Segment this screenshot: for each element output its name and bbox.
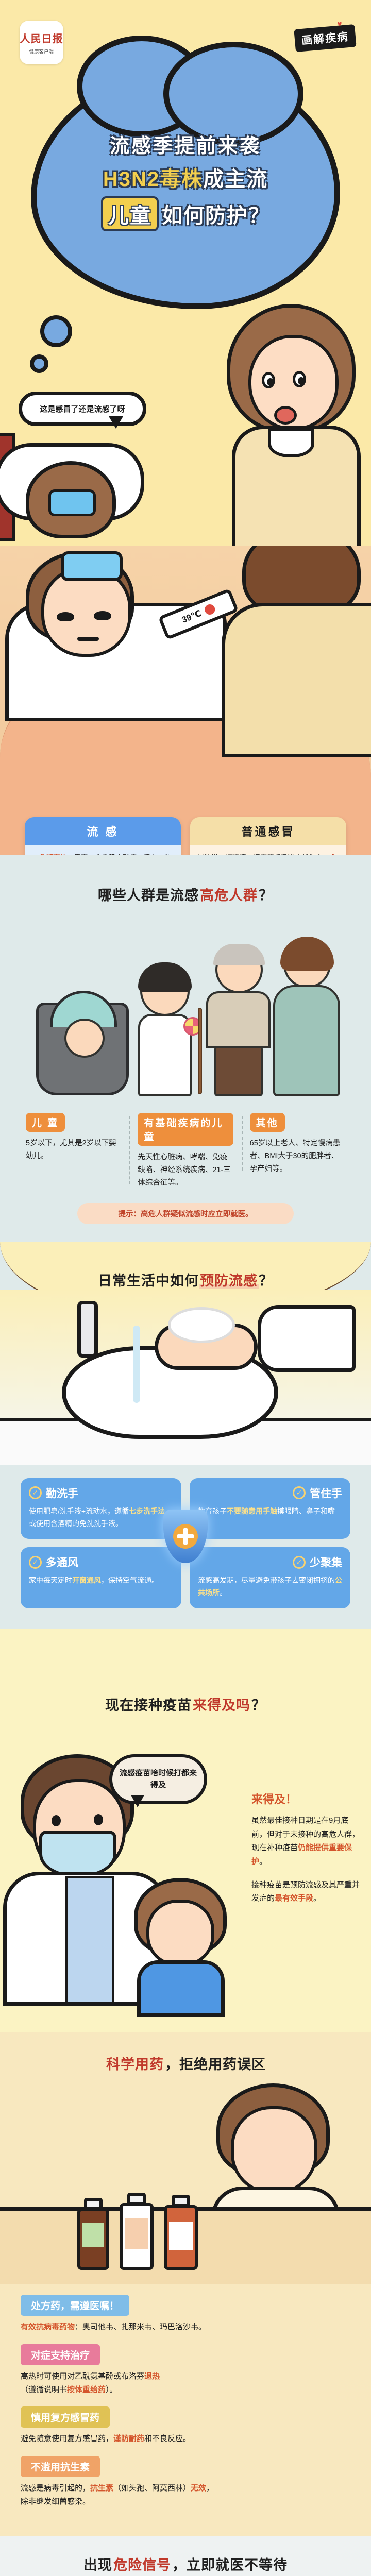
prevention-card-text: 家中每天定时开窗通风，保持空气流通。 bbox=[29, 1574, 173, 1587]
water-stream bbox=[133, 1326, 140, 1403]
doctor-speech-bubble: 流感疫苗啥时候打都来得及 bbox=[109, 1754, 207, 1804]
prevention-card-text: 使用肥皂/洗手液+流动水，遵循七步洗手法，或使用含酒精的免洗洗手液。 bbox=[29, 1505, 173, 1530]
flu-card: 流 感 急起高热、畏寒、全身肌肉酸痛、乏力、头痛等全身症状显著； 一些患儿也可能… bbox=[25, 817, 181, 855]
high-risk-heading-plain: 哪些人群是流感 bbox=[98, 888, 199, 903]
medication-heading: 科学用药，拒绝用药误区 bbox=[0, 2032, 371, 2073]
medication-tag-supportive: 对症支持治疗 bbox=[21, 2344, 100, 2365]
cold-symptom-text: 以流涕、打喷嚏、咽痛等呼吸道症状为主，全身症状较轻。 bbox=[197, 852, 339, 855]
hero-question: 如何防护？ bbox=[162, 199, 270, 229]
publisher-logo: 人民日报 健康客户端 bbox=[20, 21, 63, 64]
hero-title-line3: 儿童 如何防护？ bbox=[101, 196, 270, 231]
danger-heading: 出现危险信号，立即就医不等待 bbox=[0, 2536, 371, 2576]
prevention-card-control-hands: ✓管住手 教育孩子不要随意用手触摸眼睛、鼻子和嘴巴。 bbox=[190, 1478, 350, 1539]
risk-text: 5岁以下，尤其是2岁以下婴幼儿。 bbox=[26, 1137, 121, 1163]
check-icon: ✓ bbox=[29, 1486, 42, 1499]
publisher-name: 人民日报 bbox=[20, 30, 63, 45]
sick-child-eye-left bbox=[57, 612, 74, 621]
prevention-card-wash-hands: ✓勤洗手 使用肥皂/洗手液+流动水，遵循七步洗手法，或使用含酒精的免洗洗手液。 bbox=[21, 1478, 181, 1539]
sick-child-mouth bbox=[77, 637, 99, 641]
comparison-cards: 流 感 急起高热、畏寒、全身肌肉酸痛、乏力、头痛等全身症状显著； 一些患儿也可能… bbox=[0, 817, 371, 855]
prevention-heading-red: 预防流感 bbox=[200, 1273, 258, 1289]
prevention-section: 日常生活中如何预防流感？ ✓勤洗手 使用肥皂/洗手液+流动水，遵循七步洗手法，或… bbox=[0, 1242, 371, 1629]
title-cloud: 流感季提前来袭 H3N2毒株成主流 儿童 如何防护？ bbox=[31, 67, 340, 309]
danger-heading-red: 危险信号 bbox=[113, 2557, 171, 2573]
medication-text: 高热时可使用对乙酰氨基酚或布洛芬退热（遵循说明书按体重给药）。 bbox=[21, 2370, 350, 2397]
thought-bubble-small bbox=[30, 354, 48, 373]
high-risk-heading-mark: ？ bbox=[259, 888, 273, 903]
elderly-man-figure bbox=[206, 946, 271, 1095]
handwashing-illustration bbox=[0, 1290, 371, 1465]
high-risk-section: 哪些人群是流感高危人群？ 儿 童 5岁以下，尤其是2岁以下婴幼儿。 bbox=[0, 855, 371, 1242]
cooling-patch-icon bbox=[61, 551, 123, 581]
hero-mainstream: 成主流 bbox=[203, 168, 268, 191]
vaccine-answer: 来得及！ 虽然最佳接种日期是在9月底前，但对于未接种的高危人群，现在补种疫苗仍能… bbox=[251, 1790, 360, 1915]
prevention-card-avoid-crowds: ✓少聚集 流感高发期，尽量避免带孩子去密闭拥挤的公共场所。 bbox=[190, 1547, 350, 1608]
danger-heading-plain-1: 出现 bbox=[83, 2557, 112, 2573]
child-illustration bbox=[129, 1878, 232, 2007]
medication-tag-prescription: 处方药，需遵医嘱！ bbox=[21, 2295, 129, 2316]
prevention-card-title: 多通风 bbox=[46, 1554, 78, 1570]
sick-child-eye-right bbox=[94, 611, 111, 620]
risk-column: 其他 65岁以上老人、特定慢病患者、BMI大于30的肥胖者、孕产妇等。 bbox=[242, 1113, 353, 1176]
prevention-card-ventilate: ✓多通风 家中每天定时开窗通风，保持空气流通。 bbox=[21, 1547, 181, 1608]
mother-speech-bubble: 这是感冒了还是流感了呀 bbox=[19, 392, 146, 426]
hero-title-line1: 流感季提前来袭 bbox=[110, 130, 261, 158]
medication-text: 避免随意使用复方感冒药，谨防耐药和不良反应。 bbox=[21, 2432, 350, 2446]
vaccine-scene: 流感疫苗啥时候打都来得及 来得及！ 虽然最佳接种日期是在9月底前，但对于未接种的… bbox=[0, 1723, 371, 2022]
prevention-card-text: 流感高发期，尽量避免带孩子去密闭拥挤的公共场所。 bbox=[198, 1574, 342, 1599]
danger-heading-plain-2: ，立即就医不等待 bbox=[172, 2557, 288, 2573]
high-risk-heading: 哪些人群是流感高危人群？ bbox=[0, 884, 371, 904]
vaccine-answer-title: 来得及！ bbox=[251, 1790, 360, 1807]
risk-badge: 有基础疾病的儿童 bbox=[138, 1113, 233, 1146]
soap-foam-icon bbox=[168, 1307, 235, 1343]
risk-text: 65岁以上老人、特定慢病患者、BMI大于30的肥胖者、孕产妇等。 bbox=[250, 1137, 345, 1176]
thought-bubble-large bbox=[40, 315, 72, 347]
vaccine-heading-mark: ？ bbox=[251, 1698, 266, 1713]
mother-holding-thermometer bbox=[222, 546, 371, 762]
check-icon: ✓ bbox=[293, 1556, 306, 1569]
risk-column: 有基础疾病的儿童 先天性心脏病、哮喘、免疫缺陷、神经系统疾病、21-三体综合征等… bbox=[129, 1113, 241, 1190]
risk-badge: 儿 童 bbox=[26, 1113, 65, 1132]
cold-card-body: 以流涕、打喷嚏、咽痛等呼吸道症状为主，全身症状较轻。 bbox=[190, 845, 346, 855]
series-badge-label: 画解疾病 bbox=[301, 31, 349, 47]
risk-badge: 其他 bbox=[250, 1113, 285, 1132]
wave-divider bbox=[0, 1629, 371, 1691]
medication-text: 有效抗病毒药物：奥司他韦、扎那米韦、玛巴洛沙韦。 bbox=[21, 2320, 350, 2334]
medication-text: 流感是病毒引起的，抗生素（如头孢、阿莫西林）无效，除非继发细菌感染。 bbox=[21, 2482, 350, 2509]
medication-tag-combination: 慎用复方感冒药 bbox=[21, 2406, 110, 2428]
hero-section: 人民日报 健康客户端 ♥ 画解疾病 流感季提前来袭 H3N2毒株成主流 儿童 如… bbox=[0, 0, 371, 546]
medication-guidelines: 处方药，需遵医嘱！ 有效抗病毒药物：奥司他韦、扎那米韦、玛巴洛沙韦。 对症支持治… bbox=[0, 2284, 371, 2509]
check-icon: ✓ bbox=[29, 1556, 42, 1569]
infographic-page: 人民日报 健康客户端 ♥ 画解疾病 流感季提前来袭 H3N2毒株成主流 儿童 如… bbox=[0, 0, 371, 2576]
high-risk-columns: 儿 童 5岁以下，尤其是2岁以下婴幼儿。 有基础疾病的儿童 先天性心脏病、哮喘、… bbox=[0, 1113, 371, 1190]
baby-stroller-icon bbox=[36, 1003, 129, 1095]
medicine-bottle-icon bbox=[120, 2203, 154, 2270]
walking-cane-icon bbox=[198, 1008, 202, 1094]
series-badge: ♥ 画解疾病 bbox=[294, 24, 356, 52]
hero-strain: H3N2毒株 bbox=[103, 168, 203, 191]
mother-illustration bbox=[216, 304, 371, 546]
medication-heading-plain: ，拒绝用药误区 bbox=[165, 2057, 266, 2072]
high-risk-heading-red: 高危人群 bbox=[200, 888, 258, 903]
vaccine-heading: 现在接种疫苗来得及吗？ bbox=[0, 1691, 371, 1714]
risk-text: 先天性心脏病、哮喘、免疫缺陷、神经系统疾病、21-三体综合征等。 bbox=[138, 1151, 233, 1190]
medication-section: 科学用药，拒绝用药误区 处方药，需遵医嘱！ 有效抗病毒药物：奥司他韦、扎那米韦、… bbox=[0, 2032, 371, 2536]
thermometer-reading: 39℃ bbox=[180, 608, 203, 625]
prevention-card-title: 管住手 bbox=[310, 1485, 342, 1501]
prevention-card-title: 勤洗手 bbox=[46, 1485, 78, 1501]
medicine-bottle-icon bbox=[164, 2205, 198, 2270]
medicine-bottle-icon bbox=[77, 2208, 109, 2270]
prevention-card-title: 少聚集 bbox=[310, 1554, 342, 1570]
check-icon: ✓ bbox=[293, 1486, 306, 1499]
publisher-subtitle: 健康客户端 bbox=[29, 48, 54, 55]
prevention-card-text: 教育孩子不要随意用手触摸眼睛、鼻子和嘴巴。 bbox=[198, 1505, 342, 1530]
boy-figure bbox=[134, 967, 196, 1095]
family-illustration bbox=[31, 948, 340, 1108]
medication-tag-antibiotics: 不滥用抗生素 bbox=[21, 2456, 100, 2477]
medicine-illustration bbox=[0, 2078, 371, 2284]
vaccine-heading-plain: 现在接种疫苗 bbox=[105, 1698, 192, 1713]
face-mask-icon bbox=[39, 1831, 116, 1878]
pregnant-woman-figure bbox=[273, 941, 340, 1095]
thermometer-dot-icon bbox=[203, 603, 216, 616]
vaccine-paragraph-2: 接种疫苗是预防流感及其严重并发症的最有效手段。 bbox=[251, 1878, 360, 1906]
prevention-heading: 日常生活中如何预防流感？ bbox=[0, 1269, 371, 1290]
flu-card-body: 急起高热、畏寒、全身肌肉酸痛、乏力、头痛等全身症状显著； 一些患儿也可能出现呕吐… bbox=[25, 845, 181, 855]
vaccine-section: 现在接种疫苗来得及吗？ 流感疫苗啥时候打都来得及 来得及！ 虽然最佳接种日期是在… bbox=[0, 1629, 371, 2032]
vaccine-heading-red: 来得及吗 bbox=[193, 1698, 250, 1713]
cold-card-title: 普通感冒 bbox=[190, 817, 346, 845]
prevention-heading-mark: ？ bbox=[259, 1273, 273, 1289]
vaccine-paragraph-1: 虽然最佳接种日期是在9月底前，但对于未接种的高危人群，现在补种疫苗仍能提供重要保… bbox=[251, 1814, 360, 1869]
flu-card-title: 流 感 bbox=[25, 817, 181, 845]
hero-title-line2: H3N2毒株成主流 bbox=[103, 162, 268, 192]
symptom-comparison-section: 39℃ 流 感 急起高热、畏寒、全身肌肉酸痛、乏力、头痛等全身症状显著； 一些患… bbox=[0, 546, 371, 855]
prevention-cards: ✓勤洗手 使用肥皂/洗手液+流动水，遵循七步洗手法，或使用含酒精的免洗洗手液。 … bbox=[0, 1465, 371, 1608]
faucet-icon bbox=[77, 1301, 98, 1358]
medication-heading-red: 科学用药 bbox=[106, 2057, 164, 2072]
cold-card: 普通感冒 以流涕、打喷嚏、咽痛等呼吸道症状为主，全身症状较轻。 bbox=[190, 817, 346, 855]
risk-column: 儿 童 5岁以下，尤其是2岁以下婴幼儿。 bbox=[18, 1113, 129, 1163]
danger-signals-section: 出现危险信号，立即就医不等待 持续高热 使用退烧药后效果不佳，或持续高热超过3天… bbox=[0, 2536, 371, 2576]
prevention-heading-plain: 日常生活中如何 bbox=[98, 1273, 199, 1289]
bed-illustration bbox=[0, 433, 211, 546]
heart-icon: ♥ bbox=[337, 20, 344, 29]
hero-keyword: 儿童 bbox=[101, 196, 159, 231]
high-risk-tip: 提示：高危人群疑似流感时应立即就医。 bbox=[77, 1203, 294, 1224]
flu-symptom-item: 急起高热、畏寒、全身肌肉酸痛、乏力、头痛等全身症状显著； bbox=[32, 852, 174, 855]
